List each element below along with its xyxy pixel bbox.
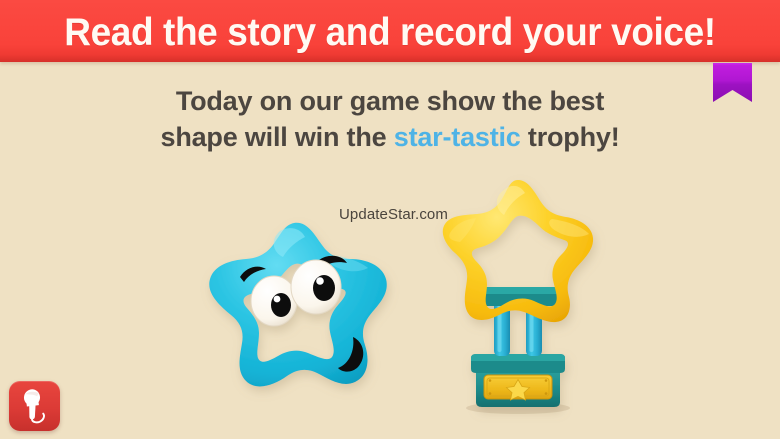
- character-stage: [0, 0, 780, 439]
- story-reader-screen: Read the story and record your voice! To…: [0, 0, 780, 439]
- star-trophy[interactable]: [440, 176, 600, 414]
- blue-star-character[interactable]: [198, 215, 398, 400]
- microphone-icon: [18, 388, 52, 424]
- record-button[interactable]: [9, 381, 60, 431]
